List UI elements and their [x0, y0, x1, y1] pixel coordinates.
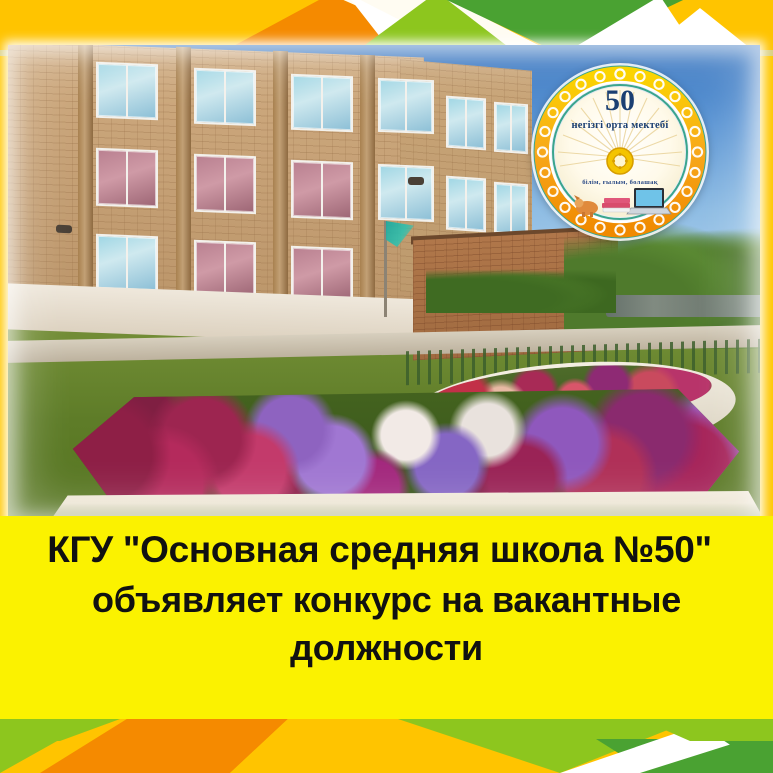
bushes [426, 267, 616, 313]
announcement-poster: 50 негізгі орта мектебі білім, ғылым, бо… [0, 0, 773, 773]
emblem-number: 50 [605, 84, 635, 117]
banner-line-3: должности [290, 628, 483, 668]
wall-lamp-icon-2 [408, 177, 424, 185]
parked-cars [606, 295, 760, 317]
announcement-banner: КГУ "Основная средняя школа №50" объявля… [0, 516, 773, 705]
banner-line-1: КГУ "Основная средняя школа №50" [0, 530, 773, 571]
emblem-title: негізгі орта мектебі [572, 120, 669, 131]
banner-line-2: объявляет конкурс на вакантные [92, 580, 681, 620]
emblem-motto: білім, ғылым, болашақ [582, 179, 658, 186]
books-icon [602, 198, 630, 212]
wall-lamp-icon [56, 225, 72, 234]
school-emblem: 50 негізгі орта мектебі білім, ғылым, бо… [530, 62, 710, 242]
decorative-bottom-border [0, 695, 773, 773]
